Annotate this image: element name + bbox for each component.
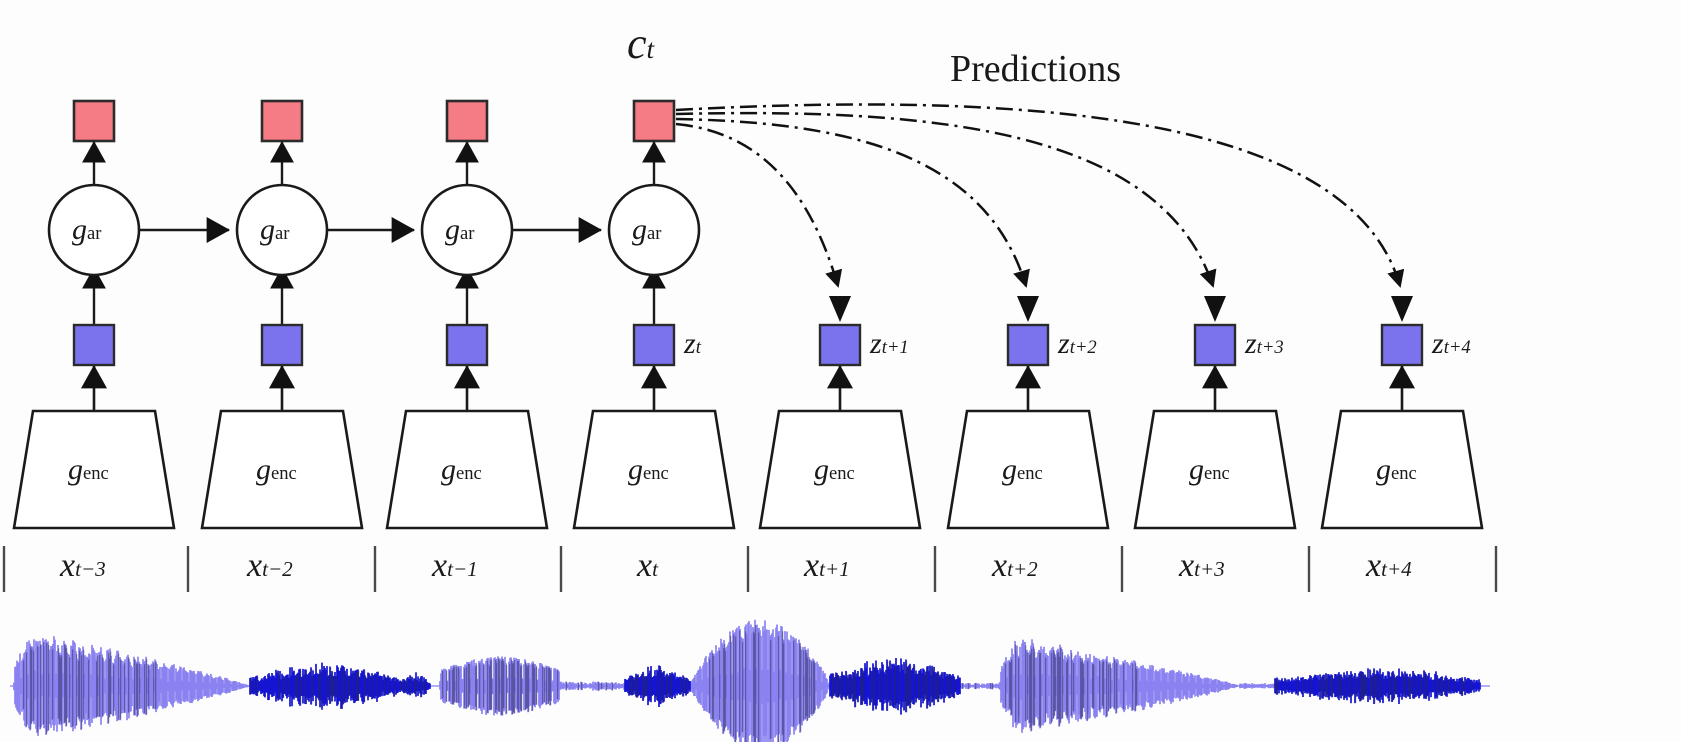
input-label-xt+3: xt+3 (1179, 547, 1225, 585)
gar-label-base: g (72, 213, 87, 246)
x-label-sub: t (652, 557, 658, 581)
latent-to-gar-arrow-group (94, 268, 654, 325)
latent-label-zt1: zt+1 (870, 327, 909, 361)
z-label-base: z (1245, 327, 1257, 360)
z-label-sub: t+1 (882, 337, 909, 358)
latent-label-zt2: zt+2 (1058, 327, 1097, 361)
genc-label-base: g (68, 453, 83, 486)
latent-label-zt4: zt+4 (1432, 327, 1471, 361)
prediction-curve-zt1 (676, 124, 838, 286)
genc-label-sub: enc (829, 463, 855, 484)
waveform-plot (10, 620, 1490, 742)
gar-label-base: g (632, 213, 647, 246)
genc-label: genc (441, 453, 482, 487)
x-label-sub: t+3 (1194, 557, 1225, 581)
x-label-base: x (247, 547, 262, 584)
gar-label: gar (260, 213, 289, 247)
x-label-sub: t+4 (1381, 557, 1412, 581)
latent-box[interactable] (1382, 325, 1422, 365)
input-label-xt+2: xt+2 (992, 547, 1038, 585)
z-label-sub: t+3 (1257, 337, 1284, 358)
z-label-base: z (1432, 327, 1444, 360)
latent-box[interactable] (634, 325, 674, 365)
genc-label-sub: enc (456, 463, 482, 484)
segment-separator-group (4, 546, 1496, 592)
x-label-sub: t−2 (262, 557, 293, 581)
genc-label-sub: enc (271, 463, 297, 484)
genc-label-base: g (256, 453, 271, 486)
x-label-base: x (60, 547, 75, 584)
prediction-arrowhead-group (829, 296, 1413, 322)
genc-label: genc (68, 453, 109, 487)
context-box[interactable] (262, 101, 302, 141)
context-box[interactable] (74, 101, 114, 141)
prediction-arrowhead (1391, 296, 1413, 322)
context-box-group (74, 101, 674, 141)
x-label-base: x (432, 547, 447, 584)
genc-label: genc (256, 453, 297, 487)
prediction-arrowhead (1204, 296, 1226, 322)
input-label-xt: xt (637, 547, 658, 585)
gar-label-base: g (445, 213, 460, 246)
input-label-xt2: xt−2 (247, 547, 293, 585)
prediction-curve-group (676, 104, 1400, 286)
context-box[interactable] (447, 101, 487, 141)
encoder-trapezoid-group (14, 411, 1482, 528)
gar-label: gar (632, 213, 661, 247)
x-label-sub: t−3 (75, 557, 106, 581)
genc-label-sub: enc (1391, 463, 1417, 484)
gar-label-sub: ar (275, 223, 289, 244)
ct-base: c (627, 19, 647, 68)
page-title: ct (627, 18, 654, 69)
x-label-sub: t+2 (1007, 557, 1038, 581)
prediction-arrowhead (829, 296, 851, 322)
genc-label-base: g (1189, 453, 1204, 486)
genc-label: genc (1189, 453, 1230, 487)
latent-box[interactable] (820, 325, 860, 365)
input-label-xt+1: xt+1 (804, 547, 850, 585)
diagram-vector-layer (0, 0, 1681, 742)
figure-canvas: ct Predictions gar gar gar gar genc genc… (0, 0, 1681, 742)
z-label-base: z (684, 327, 696, 360)
genc-label-base: g (814, 453, 829, 486)
gar-label: gar (72, 213, 101, 247)
genc-label-base: g (628, 453, 643, 486)
predictions-label: Predictions (950, 47, 1121, 91)
x-label-base: x (1366, 547, 1381, 584)
genc-label-sub: enc (1204, 463, 1230, 484)
gar-label: gar (445, 213, 474, 247)
genc-label: genc (1002, 453, 1043, 487)
latent-box[interactable] (447, 325, 487, 365)
x-label-base: x (804, 547, 819, 584)
gar-to-context-arrow-group (94, 142, 654, 185)
encoder-to-latent-arrow-group (94, 366, 1402, 411)
latent-box[interactable] (74, 325, 114, 365)
genc-label-base: g (1376, 453, 1391, 486)
z-label-base: z (1058, 327, 1070, 360)
z-label-sub: t+4 (1444, 337, 1471, 358)
latent-box[interactable] (1008, 325, 1048, 365)
prediction-arrowhead (1017, 296, 1039, 322)
x-label-base: x (992, 547, 1007, 584)
latent-label-zt: zt (684, 327, 701, 361)
gar-label-sub: ar (87, 223, 101, 244)
input-label-xt1: xt−1 (432, 547, 478, 585)
ct-sub: t (647, 34, 655, 64)
genc-label: genc (814, 453, 855, 487)
prediction-curve-zt3 (676, 113, 1213, 286)
genc-label-sub: enc (83, 463, 109, 484)
latent-box[interactable] (1195, 325, 1235, 365)
genc-label-sub: enc (1017, 463, 1043, 484)
latent-box-group (74, 325, 1422, 365)
x-label-base: x (637, 547, 652, 584)
genc-label: genc (628, 453, 669, 487)
context-box-ct[interactable] (634, 101, 674, 141)
prediction-curve-zt4 (676, 104, 1400, 286)
gar-label-base: g (260, 213, 275, 246)
x-label-base: x (1179, 547, 1194, 584)
z-label-sub: t (696, 337, 701, 358)
prediction-curve-zt2 (676, 119, 1026, 286)
genc-label-sub: enc (643, 463, 669, 484)
genc-label-base: g (1002, 453, 1017, 486)
latent-box[interactable] (262, 325, 302, 365)
gar-label-sub: ar (460, 223, 474, 244)
input-label-xt+4: xt+4 (1366, 547, 1412, 585)
z-label-base: z (870, 327, 882, 360)
x-label-sub: t−1 (447, 557, 478, 581)
genc-label: genc (1376, 453, 1417, 487)
latent-label-zt3: zt+3 (1245, 327, 1284, 361)
gar-label-sub: ar (647, 223, 661, 244)
x-label-sub: t+1 (819, 557, 850, 581)
genc-label-base: g (441, 453, 456, 486)
input-label-xt3: xt−3 (60, 547, 106, 585)
z-label-sub: t+2 (1070, 337, 1097, 358)
